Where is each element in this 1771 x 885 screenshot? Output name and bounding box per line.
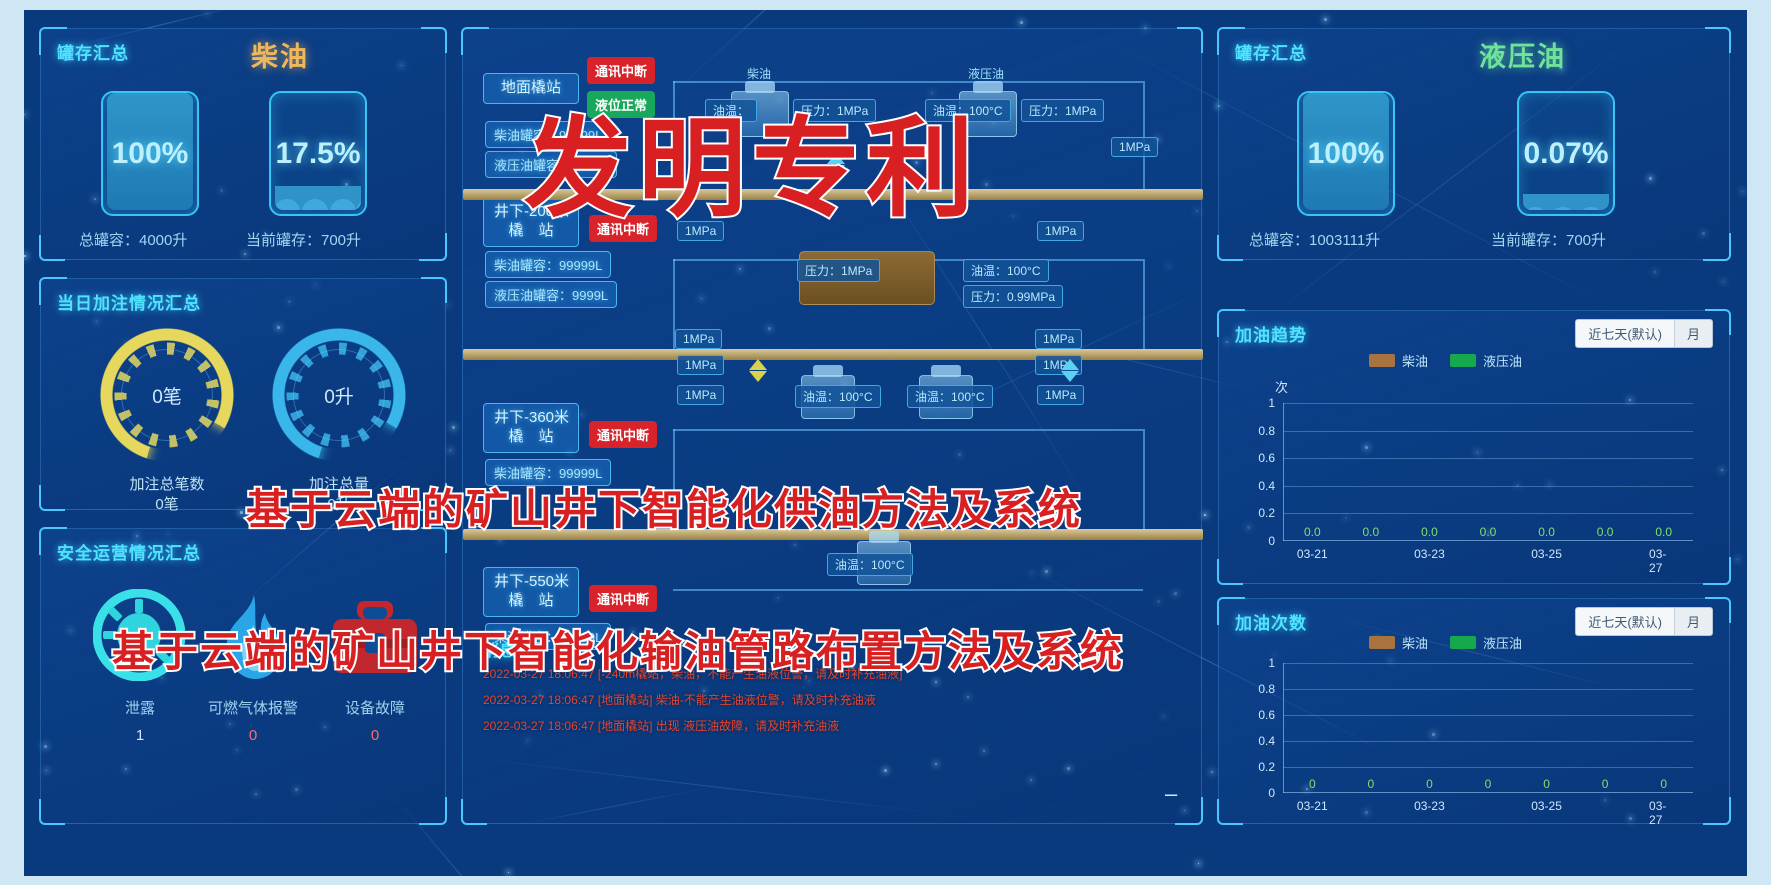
mpa-tag-3: 1MPa — [1037, 221, 1084, 241]
station-label-360-depth: 井下-360米 — [494, 409, 569, 426]
panel-refuel-trend: 加油趋势 近七天(默认) 月 柴油 液压油 次 00.20.40.60.8103… — [1218, 310, 1730, 584]
label-current-stock-hydraulic: 当前罐存：700升 — [1491, 229, 1606, 250]
chart-data-label: 0.0 — [1421, 525, 1438, 539]
mpa-tag-1: 1MPa — [1111, 137, 1158, 157]
schematic-line-j — [673, 589, 1143, 591]
chart-xtick: 03-25 — [1531, 547, 1562, 561]
safety-value-gas-alarm: 0 — [193, 727, 313, 744]
panel-title-refuel-today: 当日加注情况汇总 — [57, 289, 201, 314]
chart-gridline — [1283, 663, 1693, 664]
pipe-level-2 — [463, 349, 1203, 360]
label-refuel-count-value: 0笔 — [155, 496, 178, 513]
readout-pressure-center: 压力：1MPa — [797, 259, 880, 282]
yaxis-unit-trend: 次 — [1275, 377, 1288, 396]
chart-ytick: 1 — [1241, 656, 1275, 670]
unit-mid-1-cap — [813, 365, 843, 377]
oil-type-diesel-label: 柴油 — [251, 35, 309, 74]
mpa-tag-9: 1MPa — [677, 385, 724, 405]
label-current-stock-diesel: 当前罐存：700升 — [246, 229, 361, 250]
chart-xtick: 03-21 — [1297, 547, 1328, 561]
chart-data-label: 0 — [1485, 777, 1492, 791]
watermark-line-1: 基于云端的矿山井下智能化供油方法及系统 — [246, 476, 1082, 537]
chart-xtick: 03-27 — [1649, 799, 1678, 827]
schematic-line-g — [673, 429, 1143, 431]
readout-pressure-2: 压力：1MPa — [1021, 99, 1104, 122]
legend-swatch-diesel-trend — [1369, 354, 1395, 367]
legend-item-hydraulic-count[interactable]: 液压油 — [1450, 633, 1522, 652]
panel-right-inventory: 罐存汇总 液压油 100% 0.07% 总罐容：1003111升 当前罐存：70… — [1218, 28, 1730, 260]
tank-current-hydraulic-percent: 0.07% — [1519, 93, 1613, 214]
chart-data-label: 0.0 — [1597, 525, 1614, 539]
chart-data-label: 0.0 — [1363, 525, 1380, 539]
gauge-refuel-count-value: 0笔 — [87, 315, 247, 475]
tank-current-hydraulic: 0.07% — [1517, 91, 1615, 216]
chart-gridline — [1283, 767, 1693, 768]
gauge-refuel-volume: 0升 — [259, 315, 419, 475]
station-label-550: 井下-550米 橇 站 — [483, 567, 579, 617]
tank-total-diesel: 100% — [101, 91, 199, 216]
valve-3-icon[interactable] — [749, 359, 767, 370]
station-label-360: 井下-360米 橇 站 — [483, 403, 579, 453]
chart-gridline — [1283, 431, 1693, 432]
range-button-seven-days-count[interactable]: 近七天(默认) — [1576, 608, 1675, 635]
range-button-seven-days-trend[interactable]: 近七天(默认) — [1576, 320, 1675, 347]
chart-gridline — [1283, 741, 1693, 742]
oil-type-hydraulic-label: 液压油 — [1479, 35, 1566, 74]
mpa-tag-8: 1MPa — [1037, 385, 1084, 405]
chart-data-label: 0 — [1368, 777, 1375, 791]
panel-title-safety: 安全运营情况汇总 — [57, 539, 201, 564]
chart-data-label: 0 — [1660, 777, 1667, 791]
legend-item-hydraulic-trend[interactable]: 液压油 — [1450, 351, 1522, 370]
legend-swatch-hydraulic-count — [1450, 636, 1476, 649]
chart-refuel-count: 00.20.40.60.8103-210003-230003-250003-27… — [1283, 663, 1693, 793]
tank-total-diesel-percent: 100% — [103, 93, 197, 214]
chart-data-label: 0 — [1426, 777, 1433, 791]
legend-swatch-hydraulic-trend — [1450, 354, 1476, 367]
status-badge-550-comm: 通讯中断 — [589, 585, 657, 612]
dashboard-board: 罐存汇总 柴油 100% 17.5% 总罐容：4000升 当前罐存：700升 当… — [24, 10, 1747, 876]
chart-ytick: 0.4 — [1241, 479, 1275, 493]
schematic-line-f — [1143, 259, 1145, 349]
chart-ytick: 1 — [1241, 396, 1275, 410]
legend-label-diesel-count: 柴油 — [1402, 633, 1428, 652]
unit-label-hyd-top: 液压油 — [968, 65, 1004, 82]
panel-title-inventory-left: 罐存汇总 — [57, 39, 129, 64]
chart-ytick: 0.6 — [1241, 451, 1275, 465]
zoom-out-icon[interactable]: – — [1165, 781, 1177, 807]
chart-data-label: 0 — [1543, 777, 1550, 791]
legend-swatch-diesel-count — [1369, 636, 1395, 649]
chart-ytick: 0.6 — [1241, 708, 1275, 722]
readout-pressure-099: 压力：0.99MPa — [963, 285, 1063, 308]
safety-label-device-fault: 设备故障 — [329, 697, 421, 718]
chart-refuel-trend: 00.20.40.60.8103-210.00.003-230.00.003-2… — [1283, 403, 1693, 541]
readout-oil-temp-5: 油温：100°C — [827, 553, 913, 576]
chart-data-label: 0.0 — [1538, 525, 1555, 539]
safety-value-leak: 1 — [99, 727, 181, 744]
chart-ytick: 0 — [1241, 786, 1275, 800]
unit-label-diesel-top: 柴油 — [747, 65, 771, 82]
chart-ytick: 0 — [1241, 534, 1275, 548]
message-row-3: 2022-03-27 18:06:47 [地面橇站] 出现 液压油故障，请及时补… — [483, 717, 839, 734]
chart-xtick: 03-25 — [1531, 799, 1562, 813]
schematic-line-c — [1143, 81, 1145, 189]
gauge-refuel-volume-value: 0升 — [259, 315, 419, 475]
chart-ytick: 0.2 — [1241, 760, 1275, 774]
status-badge-ground-comm: 通讯中断 — [587, 57, 655, 84]
station-label-360-name: 橇 站 — [508, 428, 553, 445]
legend-item-diesel-count[interactable]: 柴油 — [1369, 633, 1428, 652]
tank-current-diesel-percent: 17.5% — [271, 93, 365, 214]
watermark-headline: 发明专利 — [524, 82, 980, 238]
chart-ytick: 0.2 — [1241, 506, 1275, 520]
tank-current-diesel: 17.5% — [269, 91, 367, 216]
chart-data-label: 0 — [1309, 777, 1316, 791]
valve-6-icon[interactable] — [1061, 371, 1079, 382]
chart-xtick: 03-21 — [1297, 799, 1328, 813]
chart-data-label: 0.0 — [1480, 525, 1497, 539]
label-refuel-count-text: 加注总笔数 — [129, 476, 204, 493]
chart-gridline — [1283, 513, 1693, 514]
mpa-tag-5: 1MPa — [1035, 329, 1082, 349]
tank-cap-200-diesel: 柴油罐容：99999L — [485, 251, 611, 278]
chart-ytick: 0.8 — [1241, 424, 1275, 438]
label-total-capacity-diesel: 总罐容：4000升 — [79, 229, 187, 250]
valve-5-icon[interactable] — [1061, 359, 1079, 370]
chart-data-label: 0 — [1602, 777, 1609, 791]
watermark-line-2: 基于云端的矿山井下智能化输油管路布置方法及系统 — [112, 618, 1124, 679]
station-label-550-depth: 井下-550米 — [494, 573, 569, 590]
chart-xtick: 03-23 — [1414, 547, 1445, 561]
station-label-550-name: 橇 站 — [508, 592, 553, 609]
safety-label-leak: 泄露 — [99, 697, 181, 718]
mpa-tag-4: 1MPa — [675, 329, 722, 349]
mpa-tag-6: 1MPa — [677, 355, 724, 375]
range-button-month-trend[interactable]: 月 — [1675, 320, 1712, 347]
chart-data-label: 0.0 — [1304, 525, 1321, 539]
legend-label-hydraulic-count: 液压油 — [1483, 633, 1522, 652]
panel-left-inventory: 罐存汇总 柴油 100% 17.5% 总罐容：4000升 当前罐存：700升 — [40, 28, 446, 260]
screenshot-root: 罐存汇总 柴油 100% 17.5% 总罐容：4000升 当前罐存：700升 当… — [0, 0, 1771, 885]
chart-xtick: 03-23 — [1414, 799, 1445, 813]
schematic-line-i — [1143, 429, 1145, 529]
chart-ytick: 0.4 — [1241, 734, 1275, 748]
chart-gridline — [1283, 689, 1693, 690]
safety-value-device-fault: 0 — [329, 727, 421, 744]
range-button-month-count[interactable]: 月 — [1675, 608, 1712, 635]
legend-trend: 柴油 液压油 — [1369, 351, 1522, 370]
chart-ytick: 0.8 — [1241, 682, 1275, 696]
chart-gridline — [1283, 403, 1693, 404]
chart-xtick: 03-27 — [1649, 547, 1678, 575]
chart-data-label: 0.0 — [1655, 525, 1672, 539]
panel-title-refuel-count: 加油次数 — [1235, 609, 1307, 634]
legend-label-hydraulic-trend: 液压油 — [1483, 351, 1522, 370]
readout-oil-temp-center: 油温：100°C — [963, 259, 1049, 282]
readout-oil-temp-4: 油温：100°C — [907, 385, 993, 408]
panel-title-refuel-trend: 加油趋势 — [1235, 321, 1307, 346]
tank-total-hydraulic: 100% — [1297, 91, 1395, 216]
gauge-refuel-count: 0笔 — [87, 315, 247, 475]
safety-label-gas-alarm: 可燃气体报警 — [193, 697, 313, 718]
readout-oil-temp-3: 油温：100°C — [795, 385, 881, 408]
unit-mid-2-cap — [931, 365, 961, 377]
legend-count: 柴油 液压油 — [1369, 633, 1522, 652]
valve-4-icon[interactable] — [749, 371, 767, 382]
chart-gridline — [1283, 458, 1693, 459]
chart-gridline — [1283, 486, 1693, 487]
tank-total-hydraulic-percent: 100% — [1299, 93, 1393, 214]
range-selector-count[interactable]: 近七天(默认) 月 — [1575, 607, 1713, 636]
tank-cap-200-hyd: 液压油罐容：9999L — [485, 281, 617, 308]
chart-gridline — [1283, 715, 1693, 716]
label-refuel-count: 加注总笔数 0笔 — [107, 475, 227, 516]
label-total-capacity-hydraulic: 总罐容：1003111升 — [1249, 229, 1380, 250]
panel-title-inventory-right: 罐存汇总 — [1235, 39, 1307, 64]
message-row-2: 2022-03-27 18:06:47 [地面橇站] 柴油-不能产生油液位警，请… — [483, 691, 876, 708]
status-badge-360-comm: 通讯中断 — [589, 421, 657, 448]
panel-refuel-count: 加油次数 近七天(默认) 月 柴油 液压油 00.20.40.60.8103-2… — [1218, 598, 1730, 824]
legend-label-diesel-trend: 柴油 — [1402, 351, 1428, 370]
range-selector-trend[interactable]: 近七天(默认) 月 — [1575, 319, 1713, 348]
legend-item-diesel-trend[interactable]: 柴油 — [1369, 351, 1428, 370]
